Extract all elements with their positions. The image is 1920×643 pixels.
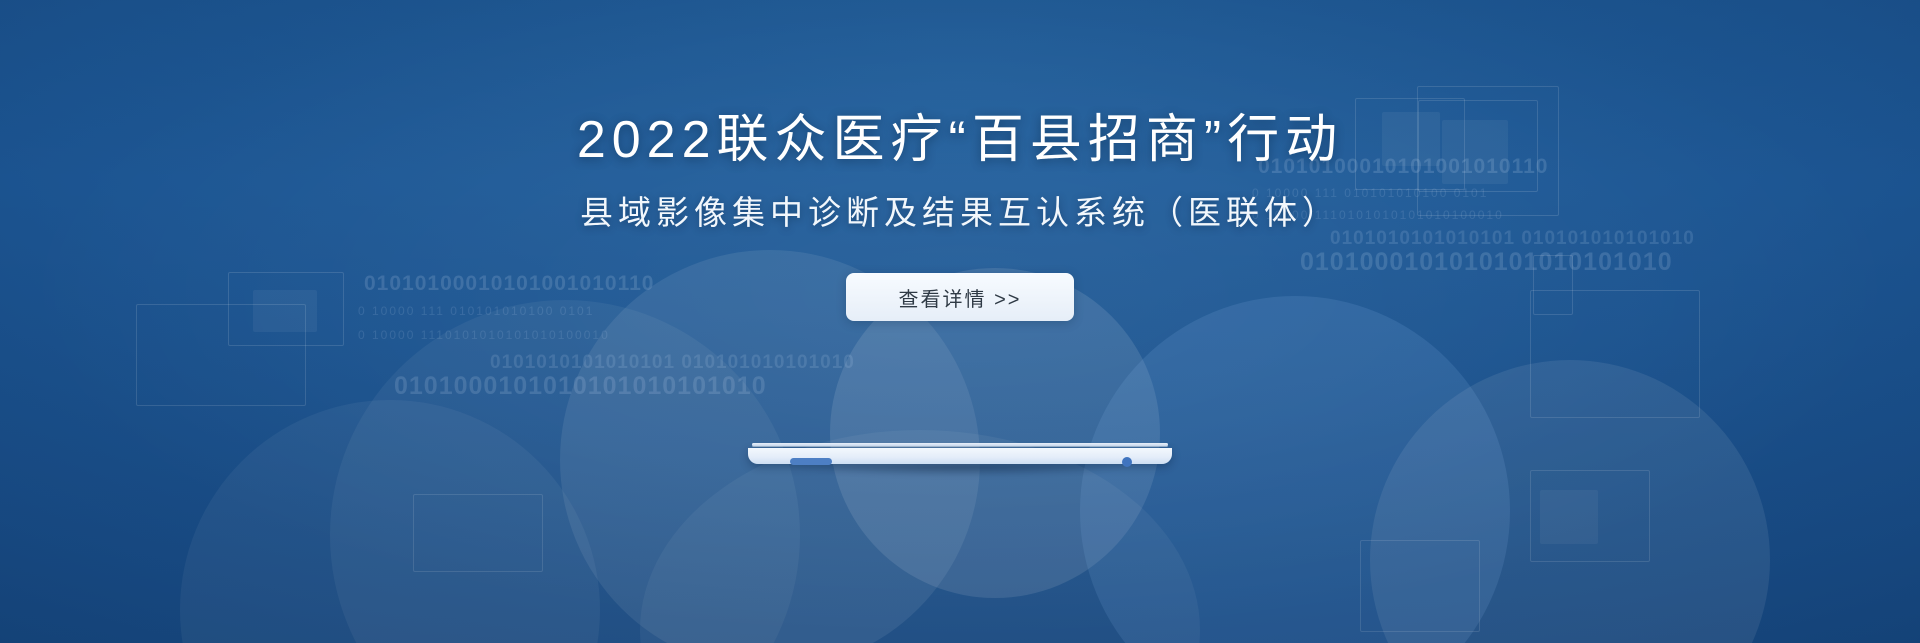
tablet-speaker-icon [790,458,832,465]
tablet-camera-icon [1122,457,1132,467]
tablet-shadow [736,465,1184,481]
tablet-device [748,443,1172,469]
tablet-body [748,448,1172,464]
banner-headline: 2022联众医疗“百县招商”行动 [577,114,1343,166]
tablet-screen-edge [752,443,1168,446]
promo-banner: 01010100010101001010110 0 10000 111 0101… [0,0,1920,643]
view-details-button[interactable]: 查看详情 >> [846,273,1074,321]
banner-content: 2022联众医疗“百县招商”行动 县域影像集中诊断及结果互认系统（医联体） 查看… [0,0,1920,643]
banner-subheadline: 县域影像集中诊断及结果互认系统（医联体） [580,196,1340,229]
